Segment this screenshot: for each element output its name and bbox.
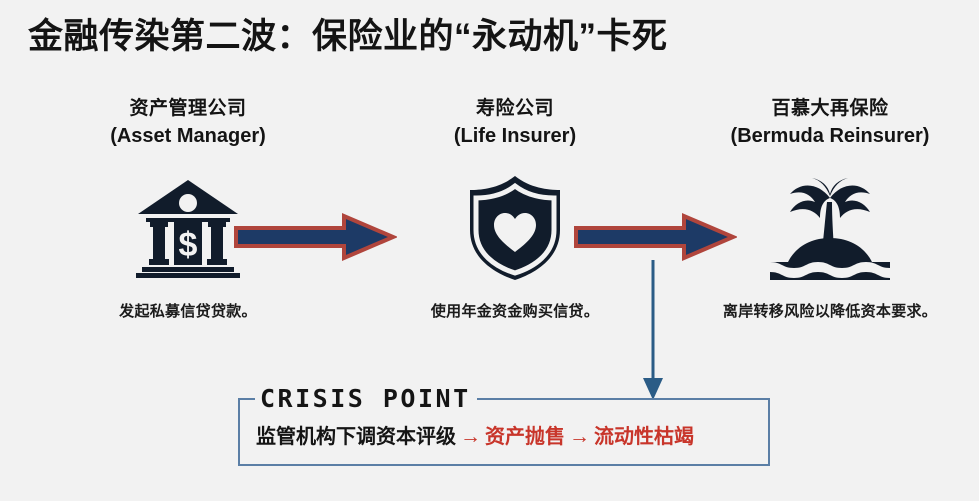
stage-caption: 使用年金资金购买信贷。 [365,302,665,322]
stage-heading-en: (Asset Manager) [38,123,338,150]
stage-caption: 发起私募信贷贷款。 [38,302,338,322]
arrow-insurer-to-reinsurer-icon [572,212,737,262]
crisis-chain: 监管机构下调资本评级→资产抛售→流动性枯竭 [256,422,756,451]
crisis-chain-arrow-2: → [565,425,594,448]
crisis-chain-step-2: 资产抛售 [485,426,565,448]
arrow-asset-to-insurer-icon [232,212,397,262]
infographic-canvas: 金融传染第二波：保险业的“永动机”卡死 资产管理公司 (Asset Manage… [0,0,979,501]
crisis-chain-step-1: 监管机构下调资本评级 [256,426,456,448]
crisis-chain-arrow-1: → [456,425,485,448]
crisis-point-label: CRISIS POINT [256,386,477,411]
crisis-chain-step-3: 流动性枯竭 [594,426,694,448]
flow-stage-life-insurer: 寿险公司 (Life Insurer) 使用年金资金购买信贷。 [365,96,665,321]
flow-stage-asset-manager: 资产管理公司 (Asset Manager) [38,96,338,321]
flow-stage-bermuda-reinsurer: 百慕大再保险 (Bermuda Reinsurer) 离岸 [680,96,979,321]
stage-heading-cn: 寿险公司 [365,96,665,122]
stage-heading-cn: 百慕大再保险 [680,96,979,122]
stage-heading-en: (Bermuda Reinsurer) [680,123,979,150]
arrow-reinsurer-to-crisis-icon [630,258,676,403]
stage-caption: 离岸转移风险以降低资本要求。 [680,302,979,322]
stage-heading-en: (Life Insurer) [365,123,665,150]
page-title: 金融传染第二波：保险业的“永动机”卡死 [28,16,948,58]
stage-heading-cn: 资产管理公司 [38,96,338,122]
svg-text:$: $ [179,226,198,264]
